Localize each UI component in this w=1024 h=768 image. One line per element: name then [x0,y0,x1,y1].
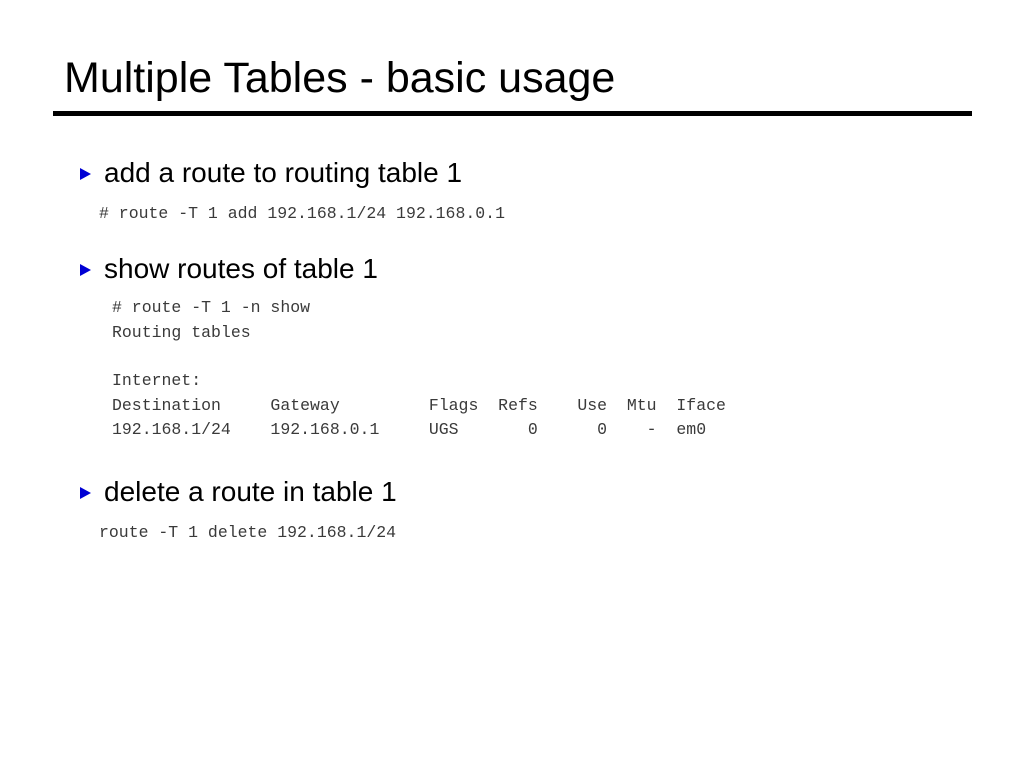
triangle-bullet-icon [80,487,91,499]
bullet-label: show routes of table 1 [104,250,378,288]
routing-table-output: Internet: Destination Gateway Flags Refs… [112,369,726,443]
bullet-section-delete-route: delete a route in table 1 route -T 1 del… [0,477,1024,515]
command-line-show: # route -T 1 -n show Routing tables [112,296,310,345]
bullet-item: show routes of table 1 [0,254,1024,292]
bullet-label: delete a route in table 1 [104,473,397,511]
bullet-section-add-route: add a route to routing table 1 # route -… [0,158,1024,196]
command-line-add: # route -T 1 add 192.168.1/24 192.168.0.… [99,202,505,227]
triangle-bullet-icon [80,264,91,276]
triangle-bullet-icon [80,168,91,180]
bullet-label: add a route to routing table 1 [104,154,462,192]
bullet-item: add a route to routing table 1 [0,158,1024,196]
title-underline-rule [53,111,972,116]
page-title: Multiple Tables - basic usage [64,52,615,104]
bullet-section-show-routes: show routes of table 1 # route -T 1 -n s… [0,254,1024,292]
bullet-item: delete a route in table 1 [0,477,1024,515]
slide-canvas: Multiple Tables - basic usage add a rout… [0,0,1024,768]
command-line-delete: route -T 1 delete 192.168.1/24 [99,521,396,546]
